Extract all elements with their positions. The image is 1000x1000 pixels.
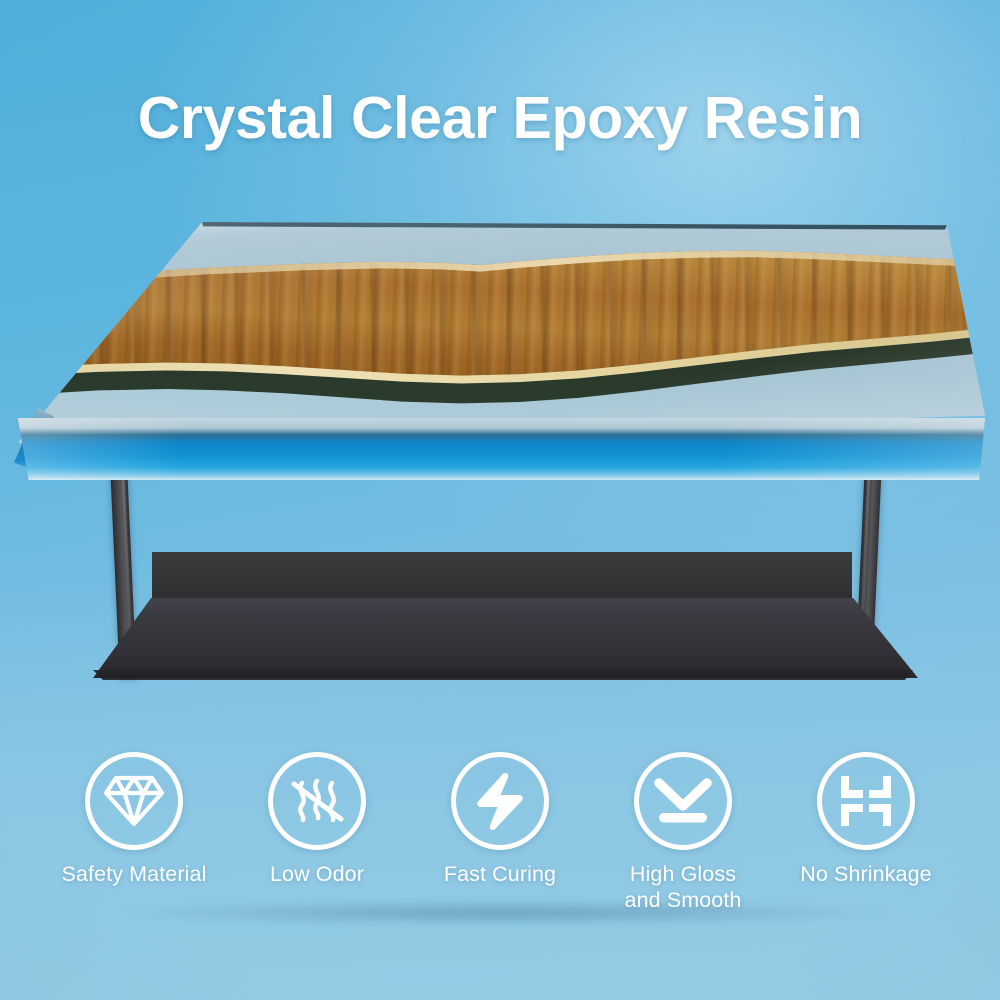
diamond-icon	[85, 752, 183, 850]
table-base-plate-edge	[88, 670, 918, 680]
table-base-riser	[152, 552, 852, 604]
lightning-bolt-icon	[451, 752, 549, 850]
feature-label: Fast Curing	[444, 861, 556, 887]
feature-safety-material[interactable]: Safety Material	[43, 752, 226, 887]
expand-corners-icon	[817, 752, 915, 850]
epoxy-resin-slab	[10, 222, 990, 482]
product-banner: Crystal Clear Epoxy Resin	[0, 0, 1000, 1000]
feature-high-gloss[interactable]: High Gloss and Smooth	[592, 752, 775, 913]
feature-no-shrinkage[interactable]: No Shrinkage	[775, 752, 958, 887]
feature-list: Safety Material Low Odor	[0, 752, 1000, 967]
feature-label: Safety Material	[62, 861, 207, 887]
product-image-epoxy-table	[0, 222, 1000, 692]
table-base-plate	[88, 598, 918, 678]
feature-label: High Gloss and Smooth	[625, 861, 742, 913]
resin-front-edge-highlight	[10, 418, 990, 480]
feature-label: Low Odor	[270, 861, 364, 887]
page-title: Crystal Clear Epoxy Resin	[0, 84, 1000, 152]
chevron-down-bar-icon	[634, 752, 732, 850]
feature-label: No Shrinkage	[800, 861, 931, 887]
no-odor-icon	[268, 752, 366, 850]
feature-fast-curing[interactable]: Fast Curing	[409, 752, 592, 887]
feature-low-odor[interactable]: Low Odor	[226, 752, 409, 887]
